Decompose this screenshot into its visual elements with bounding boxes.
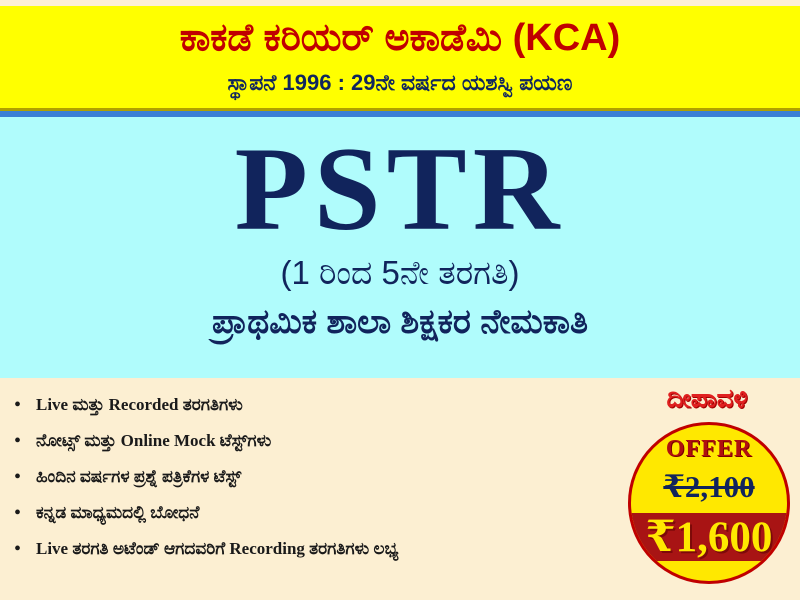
old-price-strikethrough: ₹2,100 (631, 469, 787, 505)
header-band: ಕಾಕಡೆ ಕರಿಯರ್ ಅಕಾಡೆಮಿ (KCA) ಸ್ಥಾಪನೆ 1996 … (0, 6, 800, 108)
feature-item: • Live ಮತ್ತು Recorded ತರಗತಿಗಳು (14, 390, 624, 420)
grade-range-label: (1 ರಿಂದ 5ನೇ ತರಗತಿ) (0, 251, 800, 295)
feature-item: • ಕನ್ನಡ ಮಾಧ್ಯಮದಲ್ಲಿ ಬೋಧನೆ (14, 498, 624, 528)
bullet-icon: • (14, 431, 36, 451)
feature-label: ಕನ್ನಡ ಮಾಧ್ಯಮದಲ್ಲಿ ಬೋಧನೆ (36, 501, 199, 525)
poster-root: ಕಾಕಡೆ ಕರಿಯರ್ ಅಕಾಡೆಮಿ (KCA) ಸ್ಥಾಪನೆ 1996 … (0, 0, 800, 600)
offer-badge[interactable]: ದೀಪಾವಳಿ OFFER ₹2,100 ₹1,600 (614, 382, 800, 592)
hero-panel: PSTR (1 ರಿಂದ 5ನೇ ತರಗತಿ) ಪ್ರಾಥಮಿಕ ಶಾಲಾ ಶಿ… (0, 117, 800, 378)
feature-label: ನೋಟ್ಸ್ ಮತ್ತು Online Mock ಟೆಸ್ಟ್‌ಗಳು (36, 429, 271, 453)
new-price-value: ₹1,600 (631, 513, 787, 563)
bullet-icon: • (14, 503, 36, 523)
academy-subtitle: ಸ್ಥಾಪನೆ 1996 : 29ನೇ ವರ್ಷದ ಯಶಸ್ವಿ ಪಯಣ (0, 68, 800, 98)
exam-description: ಪ್ರಾಥಮಿಕ ಶಾಲಾ ಶಿಕ್ಷಕರ ನೇಮಕಾತಿ (0, 299, 800, 345)
festival-label: ದೀಪಾವಳಿ (614, 382, 800, 414)
offer-circle: OFFER ₹2,100 ₹1,600 (628, 422, 790, 584)
bullet-icon: • (14, 467, 36, 487)
feature-item: • ನೋಟ್ಸ್ ಮತ್ತು Online Mock ಟೆಸ್ಟ್‌ಗಳು (14, 426, 624, 456)
offer-word-label: OFFER (631, 435, 787, 463)
bullet-icon: • (14, 395, 36, 415)
feature-label: ಹಿಂದಿನ ವರ್ಷಗಳ ಪ್ರಶ್ನೆ ಪತ್ರಿಕೆಗಳ ಟೆಸ್ಟ್ (36, 465, 241, 489)
exam-code-heading: PSTR (0, 125, 800, 253)
bullet-icon: • (14, 539, 36, 559)
feature-item: • Live ತರಗತಿ ಅಟೆಂಡ್ ಆಗದವರಿಗೆ Recording ತ… (14, 534, 674, 564)
feature-item: • ಹಿಂದಿನ ವರ್ಷಗಳ ಪ್ರಶ್ನೆ ಪತ್ರಿಕೆಗಳ ಟೆಸ್ಟ್ (14, 462, 624, 492)
academy-title: ಕಾಕಡೆ ಕರಿಯರ್ ಅಕಾಡೆಮಿ (KCA) (0, 15, 800, 61)
feature-label: Live ಮತ್ತು Recorded ತರಗತಿಗಳು (36, 393, 243, 417)
feature-label: Live ತರಗತಿ ಅಟೆಂಡ್ ಆಗದವರಿಗೆ Recording ತರಗ… (36, 537, 398, 561)
